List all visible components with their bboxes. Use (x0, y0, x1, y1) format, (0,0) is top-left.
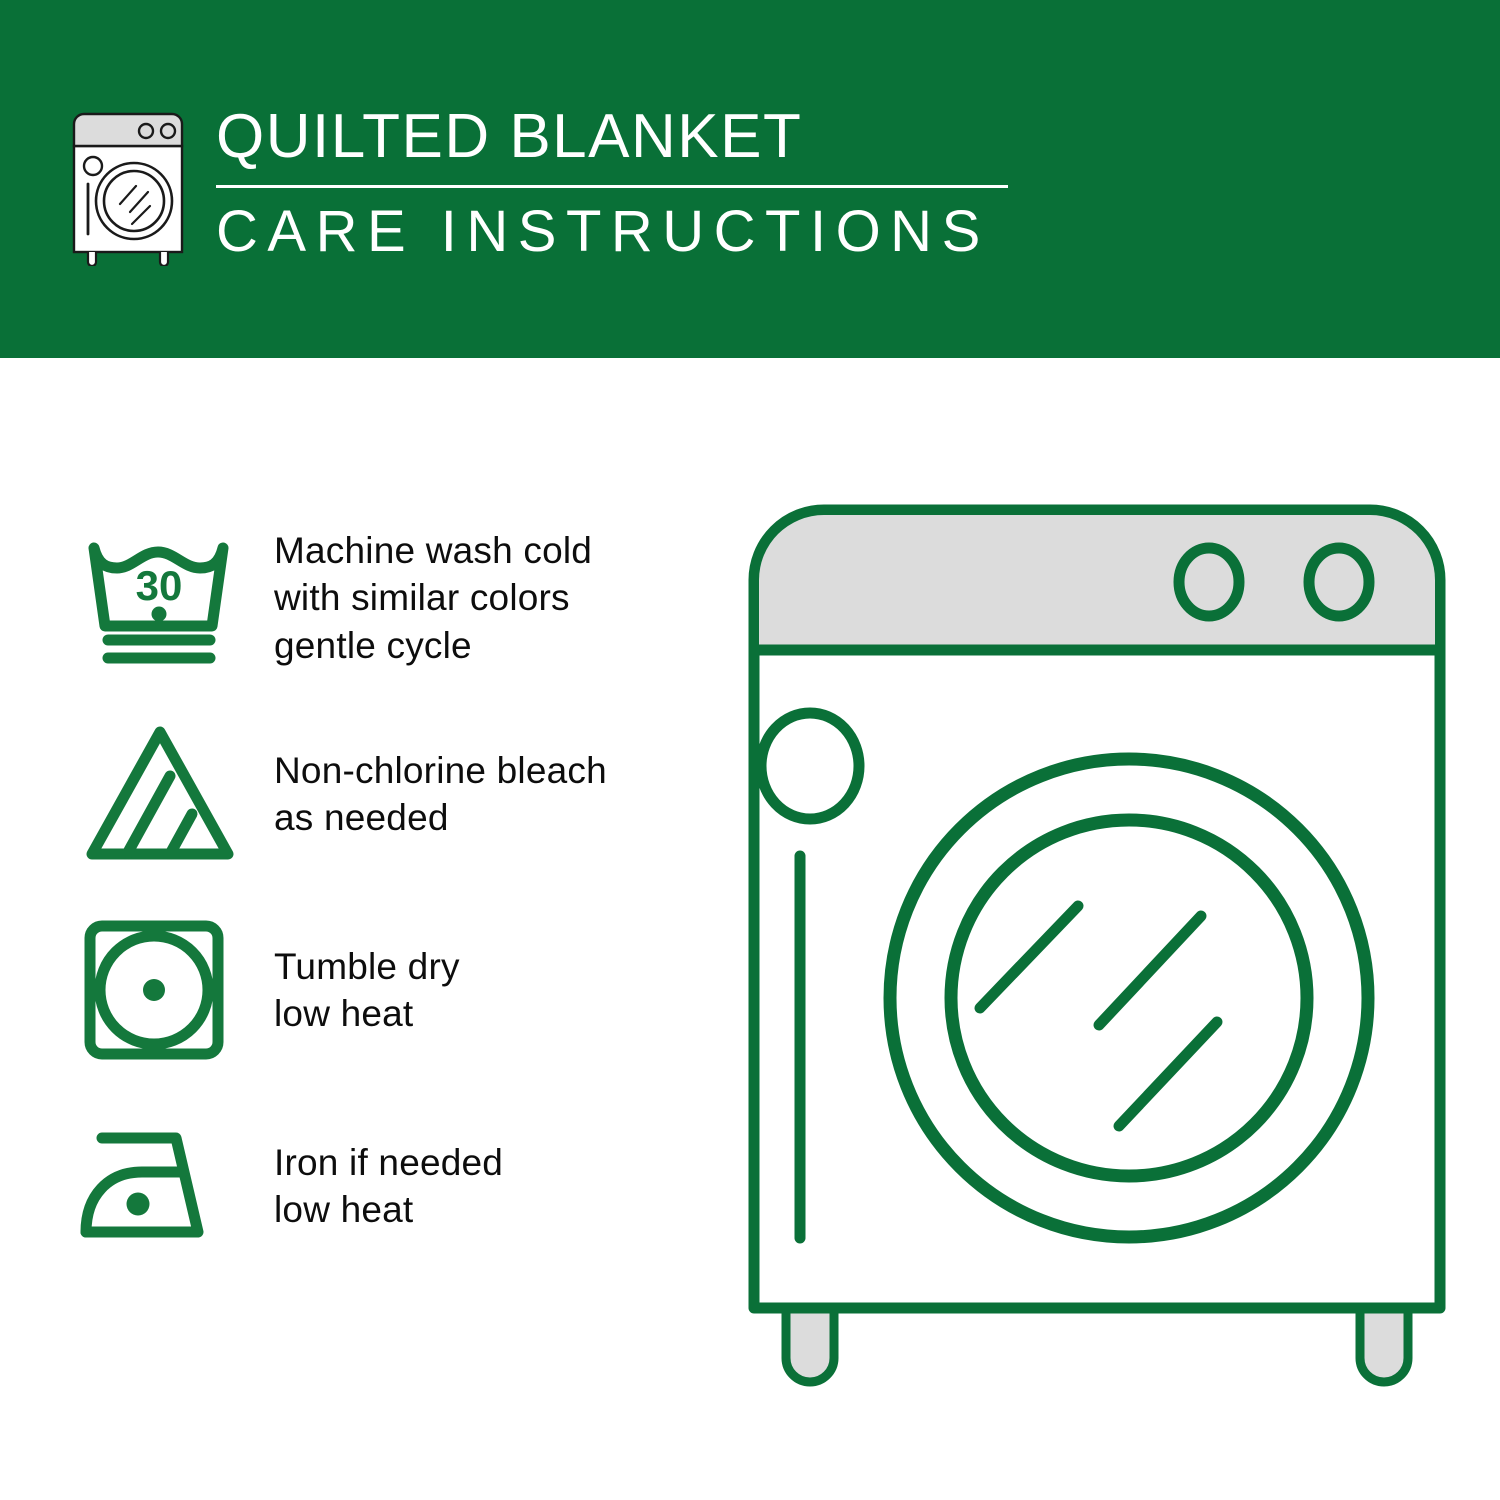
care-label: Tumble dry low heat (274, 943, 460, 1038)
control-panel (759, 515, 1435, 649)
header-text-block: QUILTED BLANKET CARE INSTRUCTIONS (216, 104, 1016, 263)
care-label: Non-chlorine bleach as needed (274, 747, 607, 842)
title-divider (216, 185, 1008, 188)
care-row: Iron if needed low heat (0, 1088, 720, 1284)
page-subtitle: CARE INSTRUCTIONS (216, 202, 1016, 263)
care-row: Non-chlorine bleach as needed (0, 696, 720, 892)
care-label: Machine wash cold with similar colors ge… (274, 527, 592, 669)
non-chlorine-bleach-triangle-icon (72, 714, 252, 874)
front-load-washing-machine-illustration (742, 498, 1452, 1418)
page-title: QUILTED BLANKET (216, 104, 1016, 169)
iron-low-heat-icon (72, 1106, 252, 1266)
care-instruction-list: 30 Machine wash cold with similar colors… (0, 500, 720, 1284)
wash-temp-value: 30 (136, 562, 183, 609)
care-instructions-page: QUILTED BLANKET CARE INSTRUCTIONS 30 (0, 0, 1500, 1500)
washing-machine-icon (62, 106, 202, 266)
care-row: Tumble dry low heat (0, 892, 720, 1088)
care-label: Iron if needed low heat (274, 1139, 503, 1234)
header-band: QUILTED BLANKET CARE INSTRUCTIONS (0, 0, 1500, 358)
wash-tub-30-gentle-icon: 30 (72, 518, 252, 678)
care-row: 30 Machine wash cold with similar colors… (0, 500, 720, 696)
tumble-dry-low-heat-icon (72, 910, 252, 1070)
